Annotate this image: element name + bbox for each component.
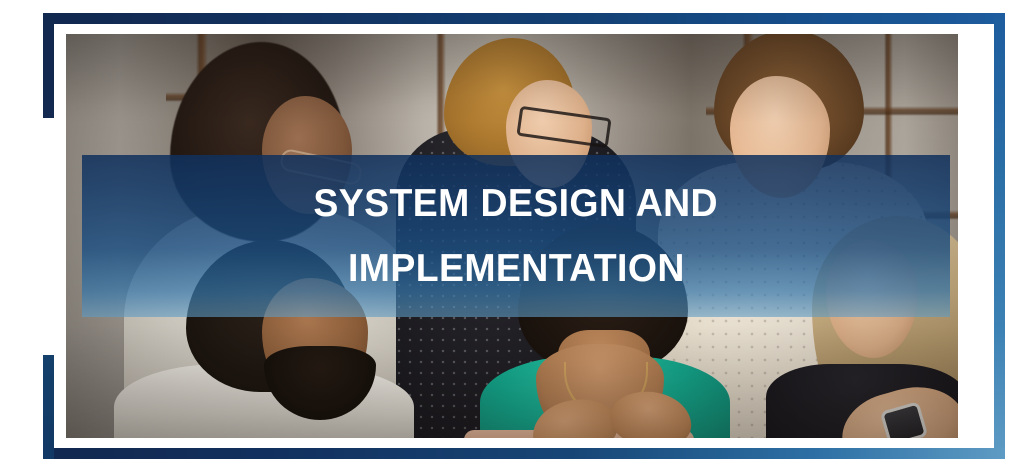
frame-left-top-bracket [43,13,54,118]
frame-top-border [43,13,1005,24]
banner: SYSTEM DESIGN AND IMPLEMENTATION [0,0,1024,474]
frame-right-border [994,13,1005,459]
title-overlay-band: SYSTEM DESIGN AND IMPLEMENTATION [82,155,950,317]
frame-left-bottom-bracket [43,355,54,459]
frame-bottom-border [43,448,1005,459]
banner-title-line-1: SYSTEM DESIGN AND [314,184,719,223]
banner-title-line-2: IMPLEMENTATION [348,249,685,288]
